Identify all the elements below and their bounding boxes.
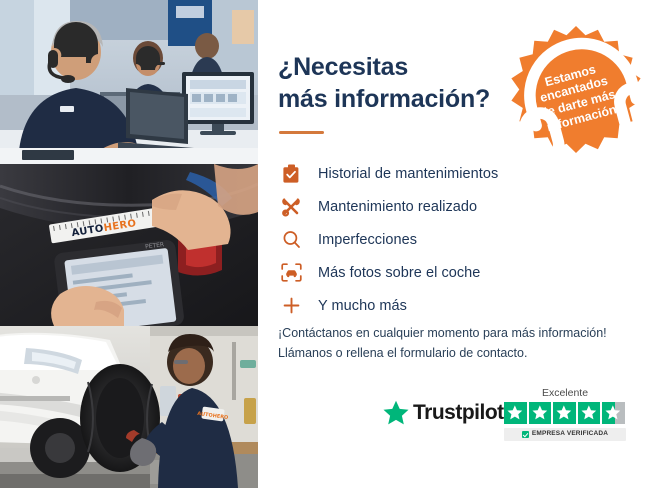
trustpilot-rating: Trustpilot Excelente <box>383 388 633 448</box>
feature-label: Historial de mantenimientos <box>318 166 498 182</box>
title-underline-rule <box>279 131 324 134</box>
magnifier-icon <box>278 229 304 251</box>
page-title: ¿Necesitas más información? <box>278 52 518 115</box>
support-badge: Estamos encantados de darte más informac… <box>501 22 650 172</box>
contact-line-1: ¡Contáctanos en cualquier momento para m… <box>278 323 643 343</box>
car-inspection-ruler-photo: AUTOHERO PETER <box>0 164 258 326</box>
feature-list: Historial de mantenimientos Mantenimient… <box>278 157 638 322</box>
contact-copy: ¡Contáctanos en cualquier momento para m… <box>278 323 643 364</box>
workshop-wheel-check-photo: AUTOHERO <box>0 326 258 488</box>
feature-label: Y mucho más <box>318 298 407 314</box>
page-title-line2: más información? <box>278 84 518 116</box>
clipboard-check-icon <box>278 163 304 185</box>
rating-label: Excelente <box>504 388 626 402</box>
car-frame-icon <box>278 262 304 284</box>
star-tile <box>553 402 576 425</box>
feature-label: Mantenimiento realizado <box>318 199 477 215</box>
call-center-agents-photo <box>0 0 258 164</box>
feature-item-maintenance-history: Historial de mantenimientos <box>278 157 638 190</box>
star-tile <box>578 402 601 425</box>
verified-check-icon <box>522 431 529 438</box>
star-tile-partial <box>602 402 625 425</box>
star-tile <box>504 402 527 425</box>
feature-item-imperfections: Imperfecciones <box>278 223 638 256</box>
star-tile <box>529 402 552 425</box>
feature-label: Más fotos sobre el coche <box>318 265 480 281</box>
trustpilot-logo: Trustpilot <box>383 400 504 425</box>
verified-label: EMPRESA VERIFICADA <box>532 431 608 438</box>
trustpilot-star-icon <box>383 400 409 425</box>
feature-label: Imperfecciones <box>318 232 417 248</box>
trustpilot-wordmark: Trustpilot <box>413 402 504 423</box>
page-title-line1: ¿Necesitas <box>278 53 408 81</box>
photo-column: AUTOHERO PETER <box>0 0 258 488</box>
plus-icon <box>278 295 304 317</box>
content-panel: ¿Necesitas más información? Estamos enca… <box>258 0 650 488</box>
contact-line-2: Llámanos o rellena el formulario de cont… <box>278 343 643 363</box>
star-rating <box>504 402 626 425</box>
feature-item-maintenance-done: Mantenimiento realizado <box>278 190 638 223</box>
tools-cross-icon <box>278 196 304 218</box>
verified-company-badge: EMPRESA VERIFICADA <box>504 428 626 441</box>
feature-item-more-photos: Más fotos sobre el coche <box>278 256 638 289</box>
trustpilot-score-block: Excelente <box>504 388 626 441</box>
promo-banner: AUTOHERO PETER <box>0 0 650 488</box>
feature-item-much-more: Y mucho más <box>278 289 638 322</box>
